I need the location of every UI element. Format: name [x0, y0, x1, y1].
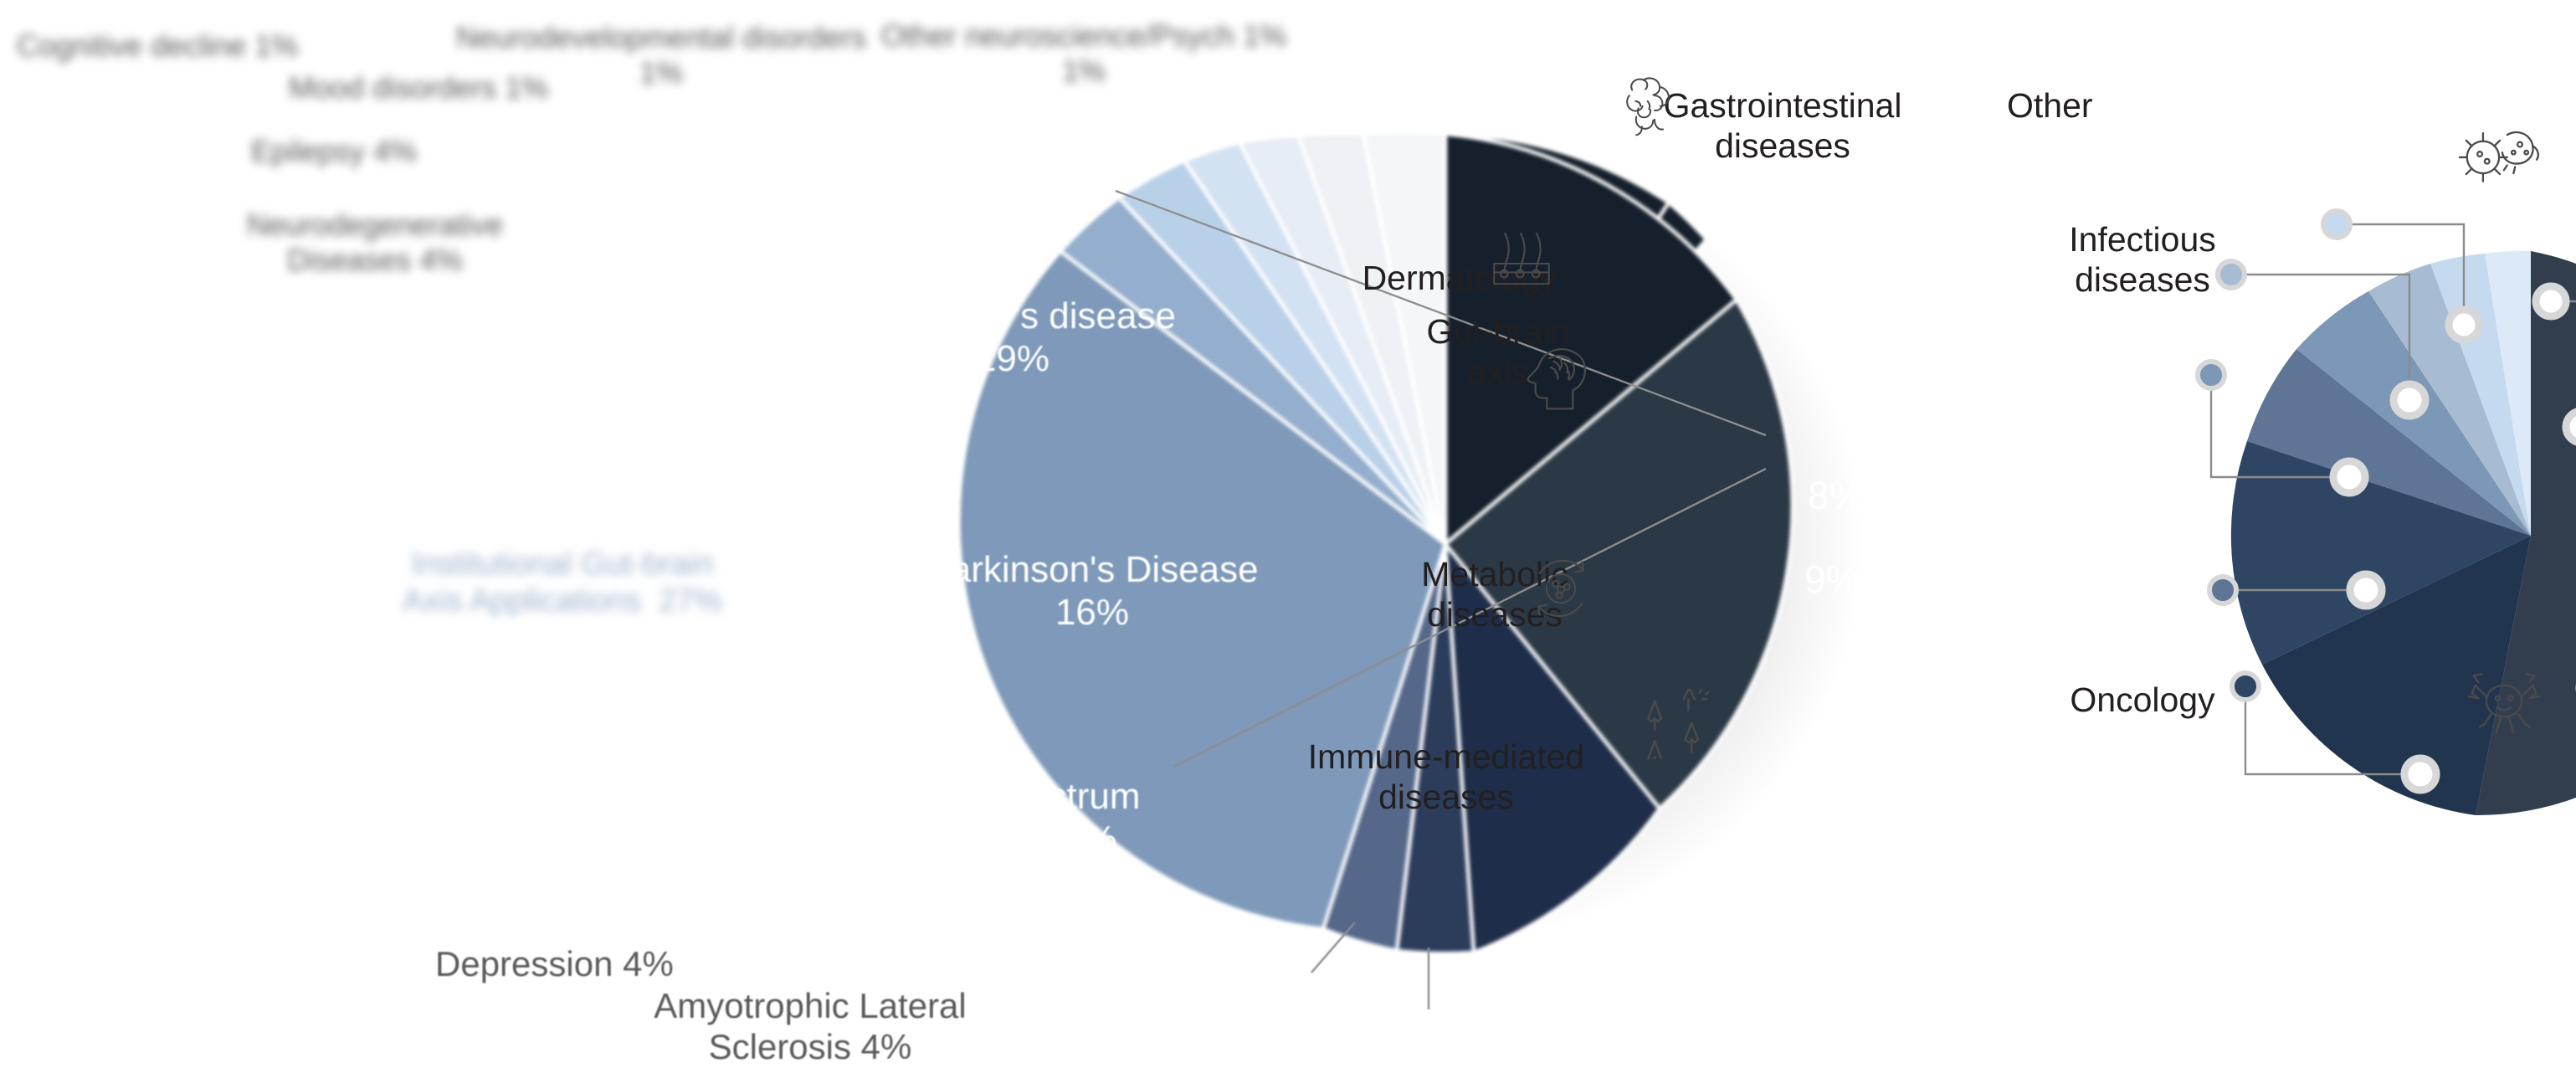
antibody-icon [1637, 686, 1717, 763]
pct-metabolic: 9% [1804, 557, 1860, 602]
label-line2: diseases [1715, 126, 1850, 165]
intestine-icon [1615, 70, 1686, 141]
legend-dot-dermatology[interactable] [2218, 261, 2245, 288]
pct-gut-brain: 8% [1808, 473, 1863, 518]
microbe-icon [2459, 117, 2543, 194]
right-pie-chart: 6% 6% 6% 8% 9% 18% 28% 21% Gastrointesti… [1306, 0, 2576, 1068]
pct-other: 6% [2007, 159, 2062, 204]
label-other: Other [2007, 85, 2093, 126]
label-gastrointestinal-diseases: Gastrointestinal diseases [1664, 85, 1902, 167]
callout-ring-dermatology[interactable] [2394, 384, 2425, 416]
pct-immune: 18% [1818, 685, 1895, 730]
pct-infectious: 28% [2039, 335, 2119, 381]
callout-ring-gut-brain[interactable] [2333, 461, 2365, 493]
label-line1: Immune-mediated [1308, 737, 1584, 776]
label-line2: diseases [2075, 260, 2210, 299]
legend-dot-gut-brain[interactable] [2198, 362, 2224, 388]
label-infectious-diseases: Infectious diseases [2069, 219, 2216, 300]
label-oncology: Oncology [2070, 680, 2214, 720]
callout-ring-other[interactable] [2536, 286, 2566, 316]
skin-hair-icon [1485, 228, 1558, 290]
callout-ring-gastrointestinal[interactable] [2449, 310, 2479, 340]
head-brain-icon [1520, 341, 1597, 412]
label-line2: diseases [1378, 778, 1514, 816]
label-line1: Infectious [2069, 220, 2216, 259]
crab-icon [2461, 661, 2548, 738]
callout-ring-infectious[interactable] [2566, 411, 2576, 443]
pct-dermatology: 6% [1851, 275, 1906, 320]
pct-gastrointestinal: 6% [1908, 186, 1963, 231]
callout-ring-immune[interactable] [2404, 758, 2436, 790]
label-line1: Gastrointestinal [1664, 86, 1902, 125]
legend-dot-metabolic[interactable] [2209, 577, 2236, 603]
chart-canvas: Alzheimer's disease 19% Parkinson's Dise… [0, 0, 2576, 1068]
right-pie-slices [1306, 0, 2576, 1068]
legend-dot-gastrointestinal[interactable] [2323, 211, 2350, 238]
legend-dot-immune[interactable] [2232, 673, 2259, 700]
callout-ring-metabolic[interactable] [2350, 574, 2382, 606]
label-immune-mediated-diseases: Immune-mediated diseases [1308, 737, 1584, 818]
pct-oncology: 21% [2025, 636, 2106, 682]
metabolism-icon [1523, 551, 1598, 626]
